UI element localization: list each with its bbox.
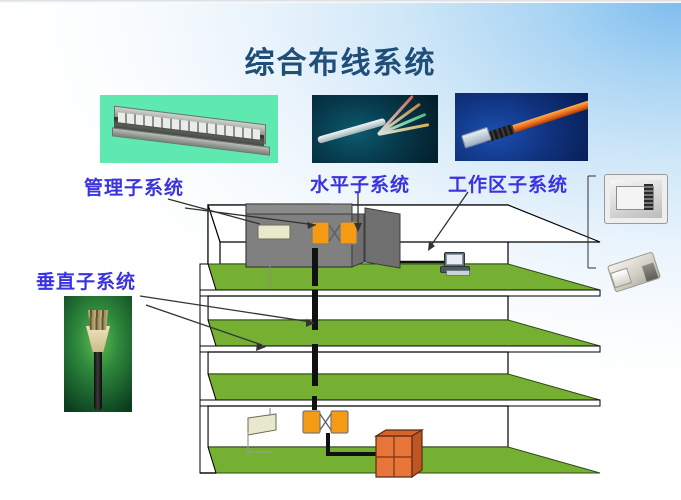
- building-diagram: [0, 0, 681, 500]
- label-work-area-subsystem: 工作区子系统: [448, 170, 568, 197]
- cabinet-side: [412, 430, 422, 477]
- keyboard-icon: [446, 270, 470, 276]
- label-management-subsystem: 管理子系统: [84, 173, 184, 200]
- patch-panel-bottom-right: [331, 411, 348, 433]
- riser-segment-floor4: [312, 396, 317, 410]
- equipment-room-top: [246, 204, 352, 214]
- floor3-ceiling-band: [200, 400, 600, 406]
- slide-canvas: 综合布线系统: [0, 0, 681, 500]
- floor1-ceiling-band: [200, 290, 600, 296]
- label-horizontal-subsystem: 水平子系统: [310, 170, 410, 197]
- floor2-back-wall: [208, 296, 508, 320]
- riser-segment-floor1: [312, 248, 318, 286]
- floor3-back-wall: [208, 352, 508, 374]
- workstation-computer: [437, 252, 471, 274]
- floor1-slab: [208, 264, 600, 290]
- floor2-slab: [208, 320, 600, 346]
- patch-panel-bottom-left: [303, 411, 320, 433]
- leader-right-bracket: [588, 176, 596, 268]
- riser-segment-floor2: [312, 290, 318, 330]
- wall-box-top: [258, 225, 290, 239]
- riser-segment-floor3: [312, 344, 318, 386]
- floor3-slab: [208, 374, 600, 400]
- label-vertical-subsystem: 垂直子系统: [36, 267, 136, 294]
- monitor-screen: [446, 254, 463, 265]
